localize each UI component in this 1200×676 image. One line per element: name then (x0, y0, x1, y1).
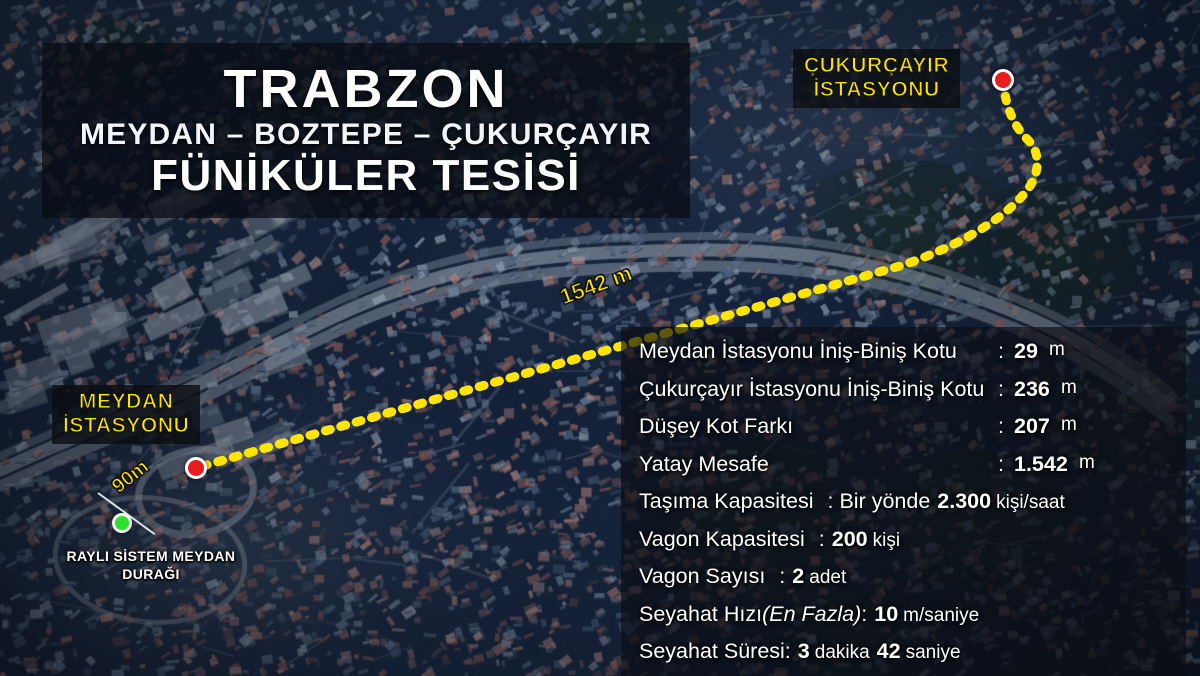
spec-label: Yatay Mesafe (639, 452, 769, 477)
spec-label: Meydan İstasyonu İniş-Biniş Kotu (639, 339, 957, 364)
spec-row: Vagon Kapasitesi:200kişi (639, 527, 1186, 565)
spec-unit: m/saniye (903, 605, 979, 627)
spec-row: Düşey Kot Farkı:207m (639, 414, 1186, 452)
spec-value-secondary: 42 (877, 639, 901, 664)
spec-colon: : (827, 489, 833, 514)
spec-colon: : (998, 452, 1004, 477)
spec-value: 200 (832, 527, 868, 552)
spec-value: 2.300 (937, 489, 991, 514)
station-label-meydan-line1: MEYDAN (79, 390, 174, 414)
spec-label: Düşey Kot Farkı (639, 414, 793, 439)
spec-value: 29 (1014, 339, 1038, 364)
spec-label: Seyahat Süresi: (639, 639, 791, 664)
spec-unit-secondary: saniye (906, 642, 961, 664)
spec-unit: m (1049, 339, 1065, 361)
spec-value: 1.542 (1014, 452, 1068, 477)
spec-row: Meydan İstasyonu İniş-Biniş Kotu:29m (639, 339, 1186, 377)
spec-unit: m (1079, 452, 1095, 474)
spec-unit: adet (809, 567, 846, 589)
spec-colon: : (861, 602, 867, 627)
spec-label: Seyahat Hızı (639, 602, 762, 627)
station-label-cukurcayir-line2: İSTASYONU (813, 78, 939, 102)
spec-unit: kişi (873, 530, 900, 552)
station-label-cukurcayir-line1: ÇUKURÇAYIR (804, 54, 949, 78)
spec-label: Çukurçayır İstasyonu İniş-Biniş Kotu (639, 377, 984, 402)
station-marker-meydan (185, 457, 207, 479)
specifications-panel: Meydan İstasyonu İniş-Biniş Kotu:29mÇuku… (621, 327, 1186, 676)
spec-label: Taşıma Kapasitesi (639, 489, 813, 514)
spec-value: 3 (798, 639, 810, 664)
station-label-cukurcayir: ÇUKURÇAYIR İSTASYONU (793, 49, 960, 108)
spec-row: Taşıma Kapasitesi:Bir yönde2.300kişi/saa… (639, 489, 1186, 527)
spec-colon: : (998, 339, 1004, 364)
spec-row: Seyahat Süresi:3dakika42saniye (639, 639, 1186, 676)
spec-label-note: (En Fazla) (762, 602, 861, 627)
spec-value: 207 (1014, 414, 1050, 439)
station-label-meydan-line2: İSTASYONU (63, 414, 189, 438)
spec-row: Vagon Sayısı:2adet (639, 564, 1186, 602)
station-marker-cukurcayir (992, 69, 1014, 91)
title-line-2: MEYDAN – BOZTEPE – ÇUKURÇAYIR (80, 118, 652, 153)
spec-colon: : (998, 377, 1004, 402)
title-line-1: TRABZON (224, 62, 509, 117)
station-label-meydan: MEYDAN İSTASYONU (52, 385, 200, 444)
funicular-infographic: TRABZON MEYDAN – BOZTEPE – ÇUKURÇAYIR FÜ… (0, 0, 1200, 676)
spec-row: Çukurçayır İstasyonu İniş-Biniş Kotu:236… (639, 377, 1186, 415)
spec-row: Yatay Mesafe:1.542m (639, 452, 1186, 490)
spec-colon: : (779, 564, 785, 589)
spec-unit: dakika (815, 642, 870, 664)
spec-label: Vagon Kapasitesi (639, 527, 805, 552)
spec-unit: m (1061, 414, 1077, 436)
spec-colon: : (819, 527, 825, 552)
spec-value: 10 (874, 602, 898, 627)
rail-stop-label: RAYLI SİSTEM MEYDAN DURAĞI (58, 548, 244, 584)
spec-unit: m (1061, 377, 1077, 399)
spec-row: Seyahat Hızı (En Fazla):10m/saniye (639, 602, 1186, 640)
spec-value: 236 (1014, 377, 1050, 402)
title-panel: TRABZON MEYDAN – BOZTEPE – ÇUKURÇAYIR FÜ… (42, 43, 690, 218)
title-line-3: FÜNİKÜLER TESİSİ (151, 153, 581, 199)
spec-label: Vagon Sayısı (639, 564, 765, 589)
spec-value-prefix: Bir yönde (839, 489, 930, 514)
spec-colon: : (998, 414, 1004, 439)
spec-unit: kişi/saat (996, 492, 1065, 514)
spec-value: 2 (792, 564, 804, 589)
